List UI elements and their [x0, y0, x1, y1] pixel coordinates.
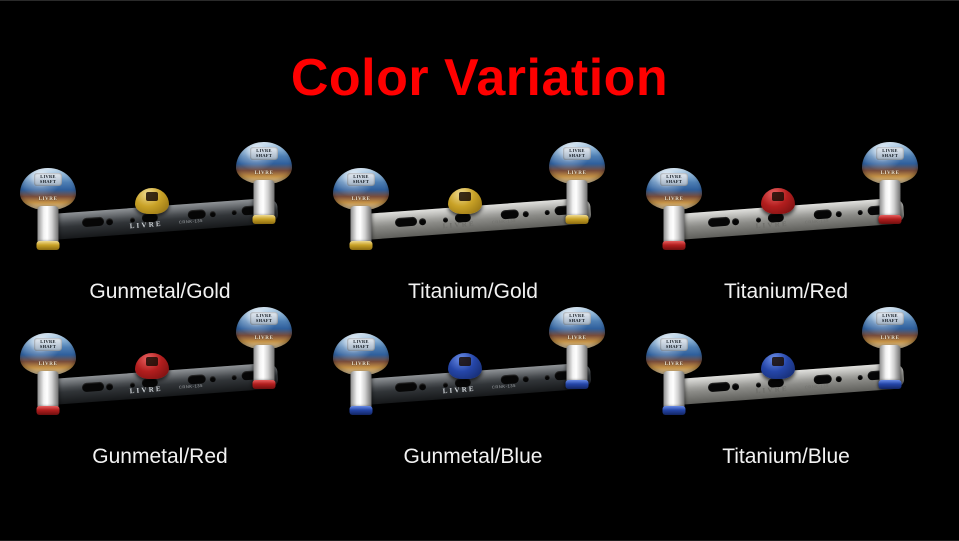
knob-logo-line2: SHAFT: [256, 153, 272, 158]
knob-side-brand: LIVRE: [881, 336, 900, 341]
knob-cap: LIVRESHAFTLIVRE: [549, 142, 605, 184]
arm-brand-text: LIVRE: [755, 385, 789, 395]
knob-cap: LIVRESHAFTLIVRE: [236, 142, 292, 184]
knob-logo-plate: LIVRESHAFT: [660, 173, 688, 186]
knob-stem: [567, 345, 588, 383]
handle-knob-left: LIVRESHAFTLIVRE: [20, 333, 76, 419]
arm-model-code: CRNK-135: [179, 382, 203, 389]
arm-model-code: CRNK-135: [179, 217, 203, 224]
arm-brand-text: LIVRE: [442, 220, 476, 230]
knob-logo-line2: SHAFT: [40, 344, 56, 349]
knob-stem: [254, 180, 275, 218]
knob-cap: LIVRESHAFTLIVRE: [862, 142, 918, 184]
knob-cap: LIVRESHAFTLIVRE: [549, 307, 605, 349]
arm-cutout-hole: [210, 376, 216, 382]
knob-side-brand: LIVRE: [568, 336, 587, 341]
center-nut: [448, 188, 482, 214]
knob-logo-line2: SHAFT: [569, 318, 585, 323]
knob-side-brand: LIVRE: [255, 336, 274, 341]
knob-side-brand: LIVRE: [665, 197, 684, 202]
arm-model-code: CRNK-135: [805, 217, 829, 224]
variant-card-titanium-gold[interactable]: LIVRECRNK-135LIVRESHAFTLIVRELIVRESHAFTLI…: [313, 140, 633, 305]
handle-knob-left: LIVRESHAFTLIVRE: [20, 168, 76, 254]
handle-knob-right: LIVRESHAFTLIVRE: [862, 307, 918, 393]
arm-cutout-slot: [708, 382, 731, 393]
center-nut: [135, 188, 169, 214]
knob-logo-plate: LIVRESHAFT: [347, 173, 375, 186]
knob-logo-line2: SHAFT: [666, 179, 682, 184]
knob-cap: LIVRESHAFTLIVRE: [333, 168, 389, 210]
arm-brand-text: LIVRE: [129, 220, 163, 230]
knob-cap: LIVRESHAFTLIVRE: [862, 307, 918, 349]
variant-label: Gunmetal/Gold: [0, 281, 320, 302]
knob-accent-collar: [663, 241, 686, 250]
knob-stem: [351, 206, 372, 244]
knob-logo-line2: SHAFT: [666, 344, 682, 349]
knob-side-brand: LIVRE: [255, 171, 274, 176]
page-title: Color Variation: [0, 52, 959, 104]
arm-cutout-slot: [82, 382, 105, 393]
variant-label: Gunmetal/Blue: [313, 446, 633, 467]
knob-side-brand: LIVRE: [881, 171, 900, 176]
arm-cutout-hole: [210, 211, 216, 217]
knob-cap: LIVRESHAFTLIVRE: [646, 168, 702, 210]
knob-cap: LIVRESHAFTLIVRE: [20, 168, 76, 210]
knob-logo-plate: LIVRESHAFT: [876, 312, 904, 325]
arm-cutout-hole: [732, 383, 739, 390]
knob-logo-plate: LIVRESHAFT: [250, 147, 278, 160]
knob-logo-line2: SHAFT: [882, 153, 898, 158]
arm-cutout-hole: [523, 211, 529, 217]
knob-accent-collar: [37, 406, 60, 415]
handle-knob-left: LIVRESHAFTLIVRE: [646, 168, 702, 254]
knob-accent-collar: [350, 406, 373, 415]
knob-accent-collar: [879, 380, 902, 389]
variant-card-titanium-red[interactable]: LIVRECRNK-135LIVRESHAFTLIVRELIVRESHAFTLI…: [626, 140, 946, 305]
variant-label: Gunmetal/Red: [0, 446, 320, 467]
knob-cap: LIVRESHAFTLIVRE: [236, 307, 292, 349]
center-nut: [448, 353, 482, 379]
knob-side-brand: LIVRE: [568, 171, 587, 176]
knob-stem: [664, 206, 685, 244]
handle-knob-right: LIVRESHAFTLIVRE: [549, 142, 605, 228]
handle-knob-left: LIVRESHAFTLIVRE: [333, 168, 389, 254]
knob-accent-collar: [350, 241, 373, 250]
knob-stem: [880, 180, 901, 218]
knob-side-brand: LIVRE: [39, 362, 58, 367]
knob-logo-line2: SHAFT: [256, 318, 272, 323]
knob-logo-plate: LIVRESHAFT: [660, 338, 688, 351]
handle-knob-right: LIVRESHAFTLIVRE: [549, 307, 605, 393]
product-image: LIVRECRNK-135LIVRESHAFTLIVRELIVRESHAFTLI…: [327, 309, 619, 421]
knob-logo-plate: LIVRESHAFT: [563, 312, 591, 325]
arm-cutout-hole: [106, 218, 113, 225]
arm-cutout-hole: [836, 211, 842, 217]
knob-side-brand: LIVRE: [352, 362, 371, 367]
handle-knob-left: LIVRESHAFTLIVRE: [646, 333, 702, 419]
knob-logo-plate: LIVRESHAFT: [347, 338, 375, 351]
knob-logo-line2: SHAFT: [882, 318, 898, 323]
arm-cutout-slot: [82, 217, 105, 228]
arm-cutout-slot: [395, 217, 418, 228]
slide-canvas: Color Variation LIVRECRNK-135LIVRESHAFTL…: [0, 0, 959, 541]
knob-logo-plate: LIVRESHAFT: [34, 338, 62, 351]
knob-accent-collar: [879, 215, 902, 224]
knob-stem: [351, 371, 372, 409]
variant-card-gunmetal-blue[interactable]: LIVRECRNK-135LIVRESHAFTLIVRELIVRESHAFTLI…: [313, 305, 633, 470]
handle-knob-right: LIVRESHAFTLIVRE: [862, 142, 918, 228]
variant-card-titanium-blue[interactable]: LIVRECRNK-135LIVRESHAFTLIVRELIVRESHAFTLI…: [626, 305, 946, 470]
handle-knob-left: LIVRESHAFTLIVRE: [333, 333, 389, 419]
arm-model-code: CRNK-135: [492, 382, 516, 389]
product-image: LIVRECRNK-135LIVRESHAFTLIVRELIVRESHAFTLI…: [327, 144, 619, 256]
knob-accent-collar: [253, 215, 276, 224]
knob-side-brand: LIVRE: [352, 197, 371, 202]
arm-brand-text: LIVRE: [129, 385, 163, 395]
knob-logo-plate: LIVRESHAFT: [250, 312, 278, 325]
variant-label: Titanium/Red: [626, 281, 946, 302]
arm-model-code: CRNK-135: [805, 382, 829, 389]
arm-cutout-hole: [732, 218, 739, 225]
knob-logo-plate: LIVRESHAFT: [563, 147, 591, 160]
center-nut: [761, 353, 795, 379]
arm-cutout-hole: [419, 383, 426, 390]
knob-stem: [38, 371, 59, 409]
knob-stem: [880, 345, 901, 383]
knob-accent-collar: [566, 215, 589, 224]
knob-stem: [567, 180, 588, 218]
knob-stem: [254, 345, 275, 383]
variant-row-top: LIVRECRNK-135LIVRESHAFTLIVRELIVRESHAFTLI…: [0, 140, 959, 305]
variant-label: Titanium/Gold: [313, 281, 633, 302]
product-image: LIVRECRNK-135LIVRESHAFTLIVRELIVRESHAFTLI…: [14, 309, 306, 421]
knob-cap: LIVRESHAFTLIVRE: [646, 333, 702, 375]
variant-card-gunmetal-red[interactable]: LIVRECRNK-135LIVRESHAFTLIVRELIVRESHAFTLI…: [0, 305, 320, 470]
knob-cap: LIVRESHAFTLIVRE: [20, 333, 76, 375]
knob-logo-plate: LIVRESHAFT: [876, 147, 904, 160]
variant-label: Titanium/Blue: [626, 446, 946, 467]
center-nut: [761, 188, 795, 214]
variant-row-bottom: LIVRECRNK-135LIVRESHAFTLIVRELIVRESHAFTLI…: [0, 305, 959, 470]
variant-card-gunmetal-gold[interactable]: LIVRECRNK-135LIVRESHAFTLIVRELIVRESHAFTLI…: [0, 140, 320, 305]
knob-accent-collar: [566, 380, 589, 389]
arm-cutout-hole: [836, 376, 842, 382]
knob-accent-collar: [253, 380, 276, 389]
arm-cutout-hole: [106, 383, 113, 390]
arm-cutout-slot: [708, 217, 731, 228]
knob-accent-collar: [37, 241, 60, 250]
handle-knob-right: LIVRESHAFTLIVRE: [236, 142, 292, 228]
knob-side-brand: LIVRE: [665, 362, 684, 367]
arm-model-code: CRNK-135: [492, 217, 516, 224]
arm-brand-text: LIVRE: [755, 220, 789, 230]
knob-stem: [38, 206, 59, 244]
arm-cutout-slot: [395, 382, 418, 393]
product-image: LIVRECRNK-135LIVRESHAFTLIVRELIVRESHAFTLI…: [640, 309, 932, 421]
knob-logo-line2: SHAFT: [353, 179, 369, 184]
knob-side-brand: LIVRE: [39, 197, 58, 202]
knob-cap: LIVRESHAFTLIVRE: [333, 333, 389, 375]
knob-logo-plate: LIVRESHAFT: [34, 173, 62, 186]
knob-accent-collar: [663, 406, 686, 415]
knob-logo-line2: SHAFT: [40, 179, 56, 184]
top-border: [0, 0, 959, 1]
arm-brand-text: LIVRE: [442, 385, 476, 395]
knob-logo-line2: SHAFT: [569, 153, 585, 158]
arm-cutout-hole: [419, 218, 426, 225]
product-image: LIVRECRNK-135LIVRESHAFTLIVRELIVRESHAFTLI…: [640, 144, 932, 256]
center-nut: [135, 353, 169, 379]
handle-knob-right: LIVRESHAFTLIVRE: [236, 307, 292, 393]
knob-stem: [664, 371, 685, 409]
knob-logo-line2: SHAFT: [353, 344, 369, 349]
arm-cutout-hole: [523, 376, 529, 382]
variant-grid: LIVRECRNK-135LIVRESHAFTLIVRELIVRESHAFTLI…: [0, 140, 959, 480]
product-image: LIVRECRNK-135LIVRESHAFTLIVRELIVRESHAFTLI…: [14, 144, 306, 256]
